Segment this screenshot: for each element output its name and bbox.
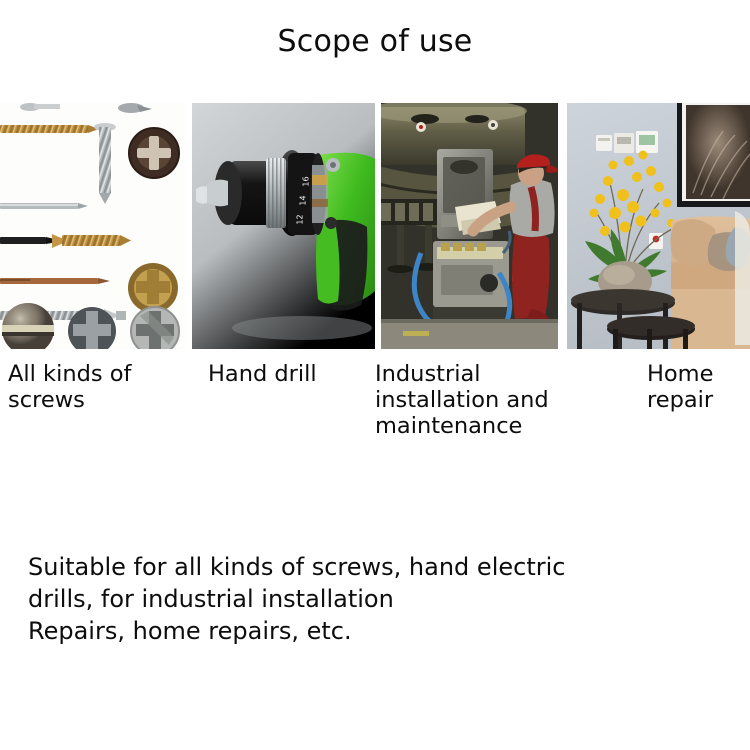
caption-drill-line1: Hand drill bbox=[208, 361, 378, 387]
caption-home-line1: Home bbox=[647, 361, 750, 387]
footer-line1: Suitable for all kinds of screws, hand e… bbox=[28, 551, 718, 583]
page-title: Scope of use bbox=[0, 24, 750, 59]
caption-screws-line1: All kinds of bbox=[8, 361, 188, 387]
steel-nail bbox=[0, 203, 88, 209]
panel-image-drill: 12 14 16 bbox=[192, 103, 375, 349]
footer-line3: Repairs, home repairs, etc. bbox=[28, 615, 718, 647]
torque-mark-12: 12 bbox=[296, 214, 305, 224]
torque-mark-16: 16 bbox=[302, 176, 311, 186]
brass-flathead-screw bbox=[52, 234, 131, 248]
caption-screws-line2: screws bbox=[8, 387, 188, 413]
footer-line2: drills, for industrial installation bbox=[28, 583, 718, 615]
caption-screws: All kinds of screws bbox=[8, 361, 188, 413]
panel-strip: 12 14 16 bbox=[0, 103, 750, 349]
pozidriv-head-closeup bbox=[131, 307, 179, 349]
caption-industry-line1: Industrial bbox=[375, 361, 585, 387]
screws-illustration bbox=[0, 103, 185, 349]
home-repair-illustration bbox=[567, 103, 750, 349]
bronze-phillips-head bbox=[129, 128, 179, 178]
caption-drill: Hand drill bbox=[208, 361, 378, 387]
brass-wood-screw bbox=[0, 125, 99, 133]
caption-home-line2: repair bbox=[647, 387, 750, 413]
caption-industry-line3: maintenance bbox=[375, 413, 585, 439]
caption-industry-line2: installation and bbox=[375, 387, 585, 413]
industrial-illustration bbox=[381, 103, 558, 349]
hand-drill-illustration bbox=[192, 103, 375, 349]
copper-nail bbox=[0, 278, 110, 284]
gold-phillips-head bbox=[128, 263, 178, 313]
panel-image-home bbox=[567, 103, 750, 349]
panel-image-screws bbox=[0, 103, 185, 349]
panel-image-industry bbox=[381, 103, 558, 349]
torque-mark-14: 14 bbox=[299, 195, 308, 205]
caption-industry: Industrial installation and maintenance bbox=[375, 361, 585, 439]
footer-description: Suitable for all kinds of screws, hand e… bbox=[28, 551, 718, 647]
wall-artwork bbox=[677, 103, 750, 207]
caption-home: Home repair bbox=[647, 361, 750, 413]
